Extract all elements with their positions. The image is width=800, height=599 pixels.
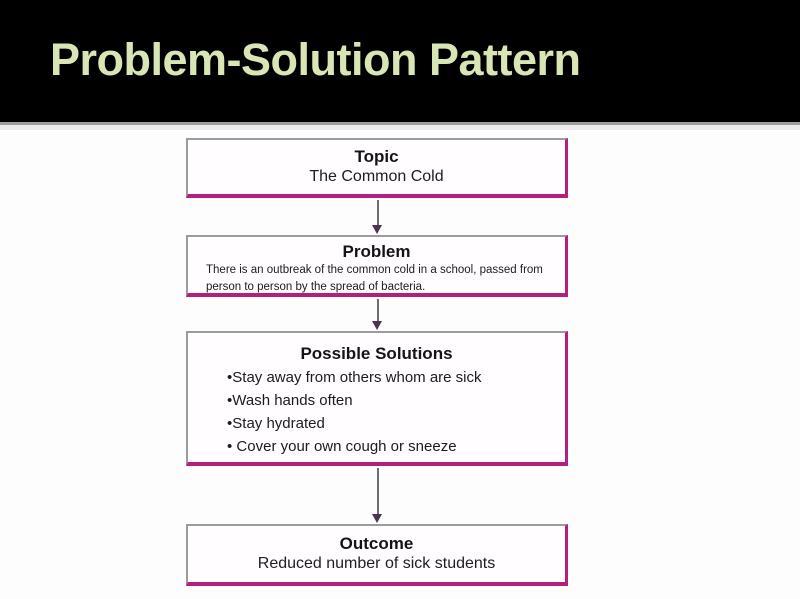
- flow-box-topic-heading: Topic: [188, 146, 565, 167]
- flow-box-solutions-heading: Possible Solutions: [188, 343, 565, 364]
- flow-box-possible-solutions[interactable]: Possible Solutions •Stay away from other…: [186, 331, 568, 466]
- flow-box-problem-body: There is an outbreak of the common cold …: [188, 262, 565, 295]
- flow-box-problem-heading: Problem: [188, 241, 565, 262]
- arrow-head-icon: [372, 321, 382, 330]
- flow-box-topic-subtitle: The Common Cold: [188, 167, 565, 188]
- list-item: •Stay hydrated: [227, 413, 565, 436]
- header-divider-secondary: [0, 125, 800, 130]
- connector-problem-to-solutions: [377, 299, 379, 322]
- list-item: •Wash hands often: [227, 390, 565, 413]
- page-title: Problem-Solution Pattern: [50, 37, 581, 82]
- flow-box-outcome-subtitle: Reduced number of sick students: [188, 554, 565, 575]
- arrow-head-icon: [372, 225, 382, 234]
- flow-box-outcome-heading: Outcome: [188, 533, 565, 554]
- list-item: • Cover your own cough or sneeze: [227, 436, 565, 459]
- flow-box-outcome[interactable]: Outcome Reduced number of sick students: [186, 524, 568, 586]
- list-item-label: Wash hands often: [232, 392, 352, 409]
- arrow-head-icon: [372, 514, 382, 523]
- connector-solutions-to-outcome: [377, 468, 379, 515]
- slide-canvas: Problem-Solution Pattern Topic The Commo…: [0, 0, 800, 599]
- solutions-bullet-list: •Stay away from others whom are sick •Wa…: [188, 367, 565, 458]
- list-item: •Stay away from others whom are sick: [227, 367, 565, 390]
- flow-box-problem[interactable]: Problem There is an outbreak of the comm…: [186, 235, 568, 297]
- flow-box-topic[interactable]: Topic The Common Cold: [186, 138, 568, 198]
- connector-topic-to-problem: [377, 200, 379, 227]
- list-item-label: Stay hydrated: [232, 415, 325, 432]
- list-item-label: Cover your own cough or sneeze: [232, 438, 456, 455]
- list-item-label: Stay away from others whom are sick: [232, 369, 481, 386]
